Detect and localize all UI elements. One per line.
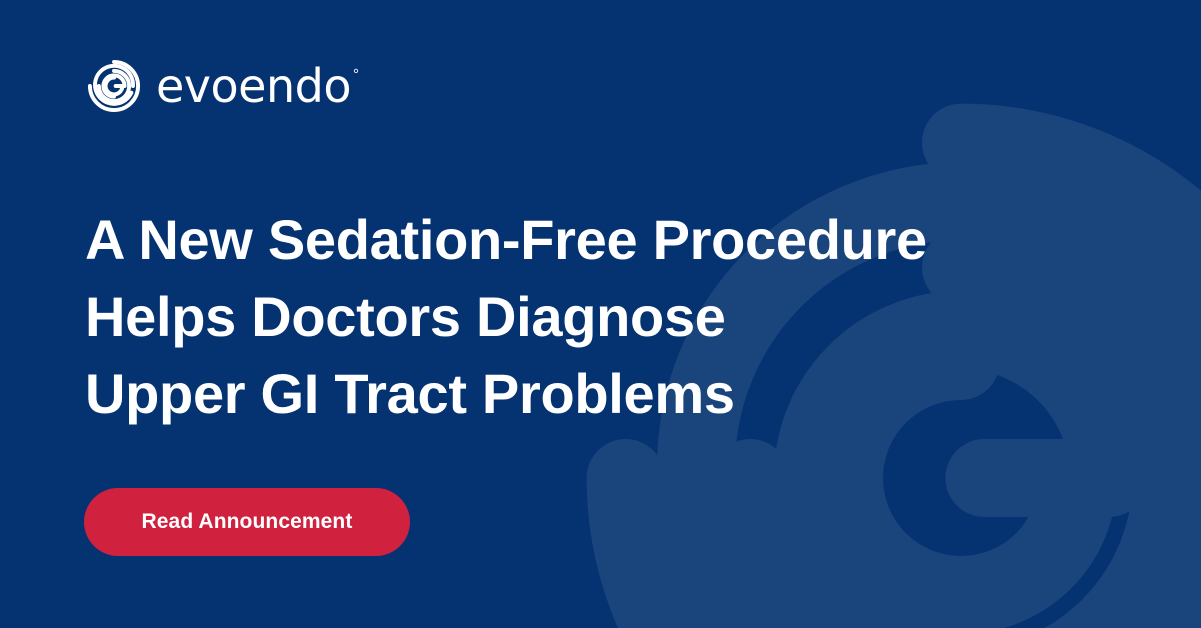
- trademark-icon: °: [353, 67, 359, 82]
- read-announcement-button[interactable]: Read Announcement: [84, 488, 410, 556]
- headline-line-3: Upper GI Tract Problems: [85, 355, 927, 432]
- brand-wordmark: evoendo °: [156, 63, 358, 109]
- evoendo-spiral-e-logo-icon: [86, 58, 142, 114]
- brand-wordmark-text: evoendo: [156, 63, 351, 109]
- page-title: A New Sedation-Free Procedure Helps Doct…: [85, 201, 927, 432]
- brand-logo[interactable]: evoendo °: [86, 58, 358, 114]
- headline-line-2: Helps Doctors Diagnose: [85, 278, 927, 355]
- headline-line-1: A New Sedation-Free Procedure: [85, 201, 927, 278]
- announcement-banner: evoendo ° A New Sedation-Free Procedure …: [0, 0, 1201, 628]
